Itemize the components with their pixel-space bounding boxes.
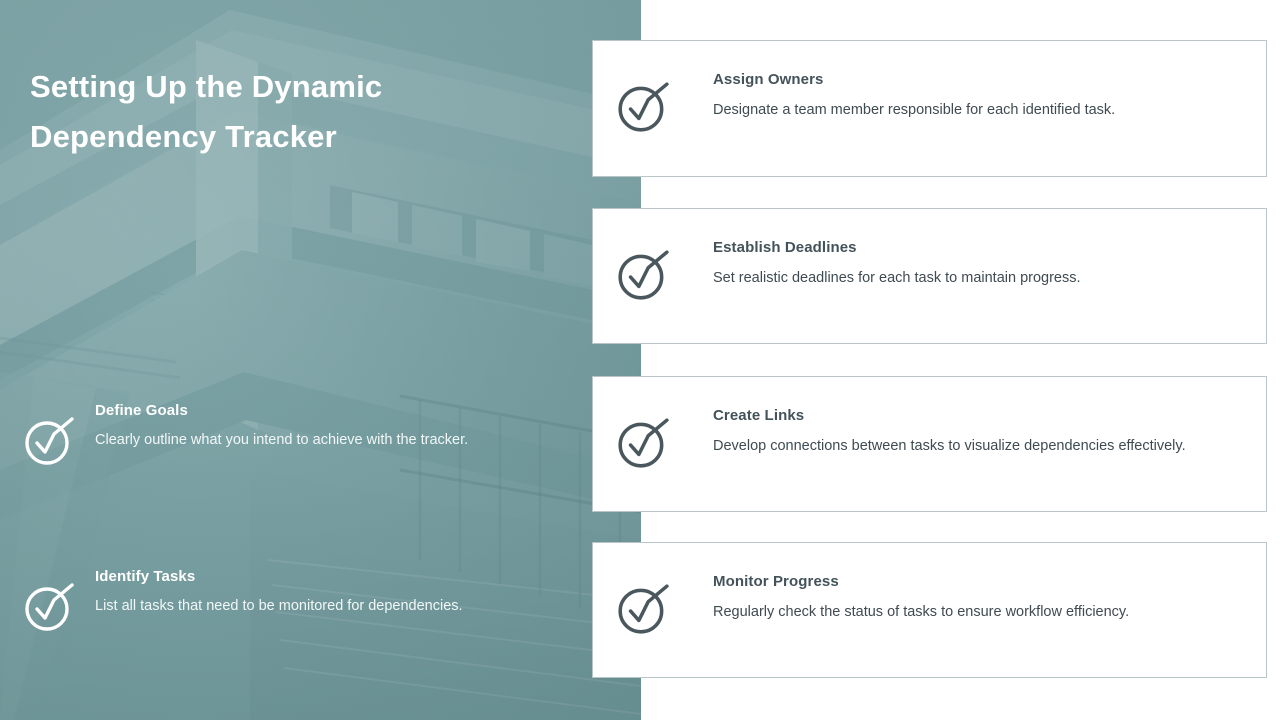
card-assign-owners[interactable]: Assign Owners Designate a team member re… [592, 40, 1267, 177]
card-description: Develop connections between tasks to vis… [713, 436, 1186, 457]
card-title: Monitor Progress [713, 573, 1129, 590]
card-title: Establish Deadlines [713, 239, 1081, 256]
card-description: Set realistic deadlines for each task to… [713, 268, 1081, 289]
title-block: Setting Up the Dynamic Dependency Tracke… [30, 62, 500, 162]
left-item-title: Identify Tasks [95, 568, 463, 585]
card-description: Regularly check the status of tasks to e… [713, 602, 1129, 623]
left-item-text: Define Goals Clearly outline what you in… [76, 402, 468, 451]
page-title: Setting Up the Dynamic Dependency Tracke… [30, 62, 500, 162]
card-text: Create Links Develop connections between… [671, 377, 1210, 457]
check-circle-icon [615, 581, 671, 637]
left-item-identify-tasks[interactable]: Identify Tasks List all tasks that need … [22, 568, 463, 634]
left-item-define-goals[interactable]: Define Goals Clearly outline what you in… [22, 402, 468, 468]
card-title: Assign Owners [713, 71, 1115, 88]
check-circle-icon [615, 247, 671, 303]
card-title: Create Links [713, 407, 1186, 424]
card-text: Monitor Progress Regularly check the sta… [671, 543, 1153, 623]
check-circle-icon [615, 79, 671, 135]
check-circle-icon [615, 415, 671, 471]
check-circle-icon [22, 414, 76, 468]
card-monitor-progress[interactable]: Monitor Progress Regularly check the sta… [592, 542, 1267, 678]
card-description: Designate a team member responsible for … [713, 100, 1115, 121]
slide-root: Setting Up the Dynamic Dependency Tracke… [0, 0, 1280, 720]
card-text: Establish Deadlines Set realistic deadli… [671, 209, 1105, 289]
left-item-text: Identify Tasks List all tasks that need … [76, 568, 463, 617]
card-create-links[interactable]: Create Links Develop connections between… [592, 376, 1267, 512]
card-establish-deadlines[interactable]: Establish Deadlines Set realistic deadli… [592, 208, 1267, 344]
left-item-title: Define Goals [95, 402, 468, 419]
card-text: Assign Owners Designate a team member re… [671, 41, 1139, 121]
left-item-description: Clearly outline what you intend to achie… [95, 430, 468, 451]
left-item-description: List all tasks that need to be monitored… [95, 596, 463, 617]
check-circle-icon [22, 580, 76, 634]
